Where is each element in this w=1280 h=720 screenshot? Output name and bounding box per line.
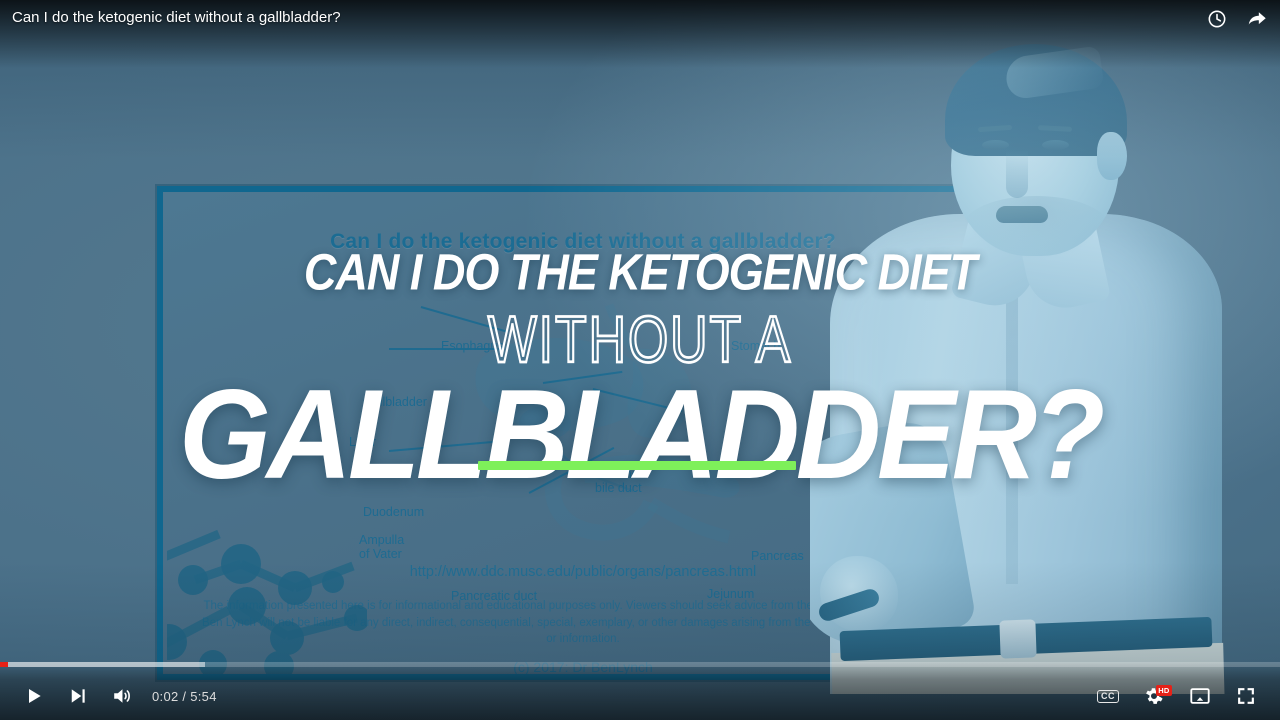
presenter-mouth: [996, 206, 1048, 223]
miniplayer-icon: [1189, 685, 1211, 707]
organ-label: Stomach: [731, 339, 780, 353]
organ-label: Esophagus: [441, 339, 504, 353]
time-display: 0:02 / 5:54: [146, 689, 225, 704]
next-video-button[interactable]: [58, 676, 98, 716]
play-icon: [24, 686, 44, 706]
controls-left: 0:02 / 5:54: [0, 676, 225, 716]
progress-loaded: [0, 662, 205, 667]
play-button[interactable]: [14, 676, 54, 716]
organ-label: Duodenum: [363, 505, 424, 519]
cc-label: CC: [1097, 690, 1119, 703]
shirt-placket: [1006, 254, 1018, 584]
watch-later-button[interactable]: [1204, 6, 1230, 32]
organ-label: Common bile duct: [595, 467, 646, 496]
presenter-nose: [1006, 150, 1028, 198]
organ-label: Gallbladder: [363, 395, 427, 409]
video-title[interactable]: Can I do the ketogenic diet without a ga…: [12, 9, 341, 27]
video-surface[interactable]: Can I do the ketogenic diet without a ga…: [0, 0, 1280, 720]
organ-label: Pancreas: [751, 549, 804, 563]
controls-right: CC HD: [1088, 676, 1280, 716]
anatomy-diagram: [333, 287, 853, 587]
progress-played: [0, 662, 8, 667]
controls-row: 0:02 / 5:54 CC HD: [0, 672, 1280, 720]
eye-right: [1042, 140, 1069, 150]
youtube-video-player[interactable]: Can I do the ketogenic diet without a ga…: [0, 0, 1280, 720]
quality-badge: HD: [1156, 685, 1172, 696]
share-icon: [1246, 8, 1268, 30]
molecule-graphic: [167, 514, 367, 674]
settings-button[interactable]: HD: [1134, 676, 1174, 716]
fullscreen-icon: [1236, 686, 1256, 706]
top-actions: [1204, 6, 1270, 32]
belt-buckle: [999, 619, 1036, 658]
presenter-figure: [810, 0, 1280, 694]
fullscreen-button[interactable]: [1226, 676, 1266, 716]
theater-mode-button[interactable]: [1180, 676, 1220, 716]
volume-button[interactable]: [102, 676, 142, 716]
clock-icon: [1207, 9, 1227, 29]
volume-icon: [111, 685, 133, 707]
captions-button[interactable]: CC: [1088, 676, 1128, 716]
eye-left: [982, 140, 1009, 150]
player-top-bar: Can I do the ketogenic diet without a ga…: [0, 0, 1280, 68]
next-icon: [68, 686, 88, 706]
presenter-ear: [1097, 132, 1127, 180]
share-button[interactable]: [1244, 6, 1270, 32]
organ-label: Liver: [349, 435, 376, 449]
progress-bar[interactable]: [0, 662, 1280, 667]
player-controls-bar: 0:02 / 5:54 CC HD: [0, 662, 1280, 720]
